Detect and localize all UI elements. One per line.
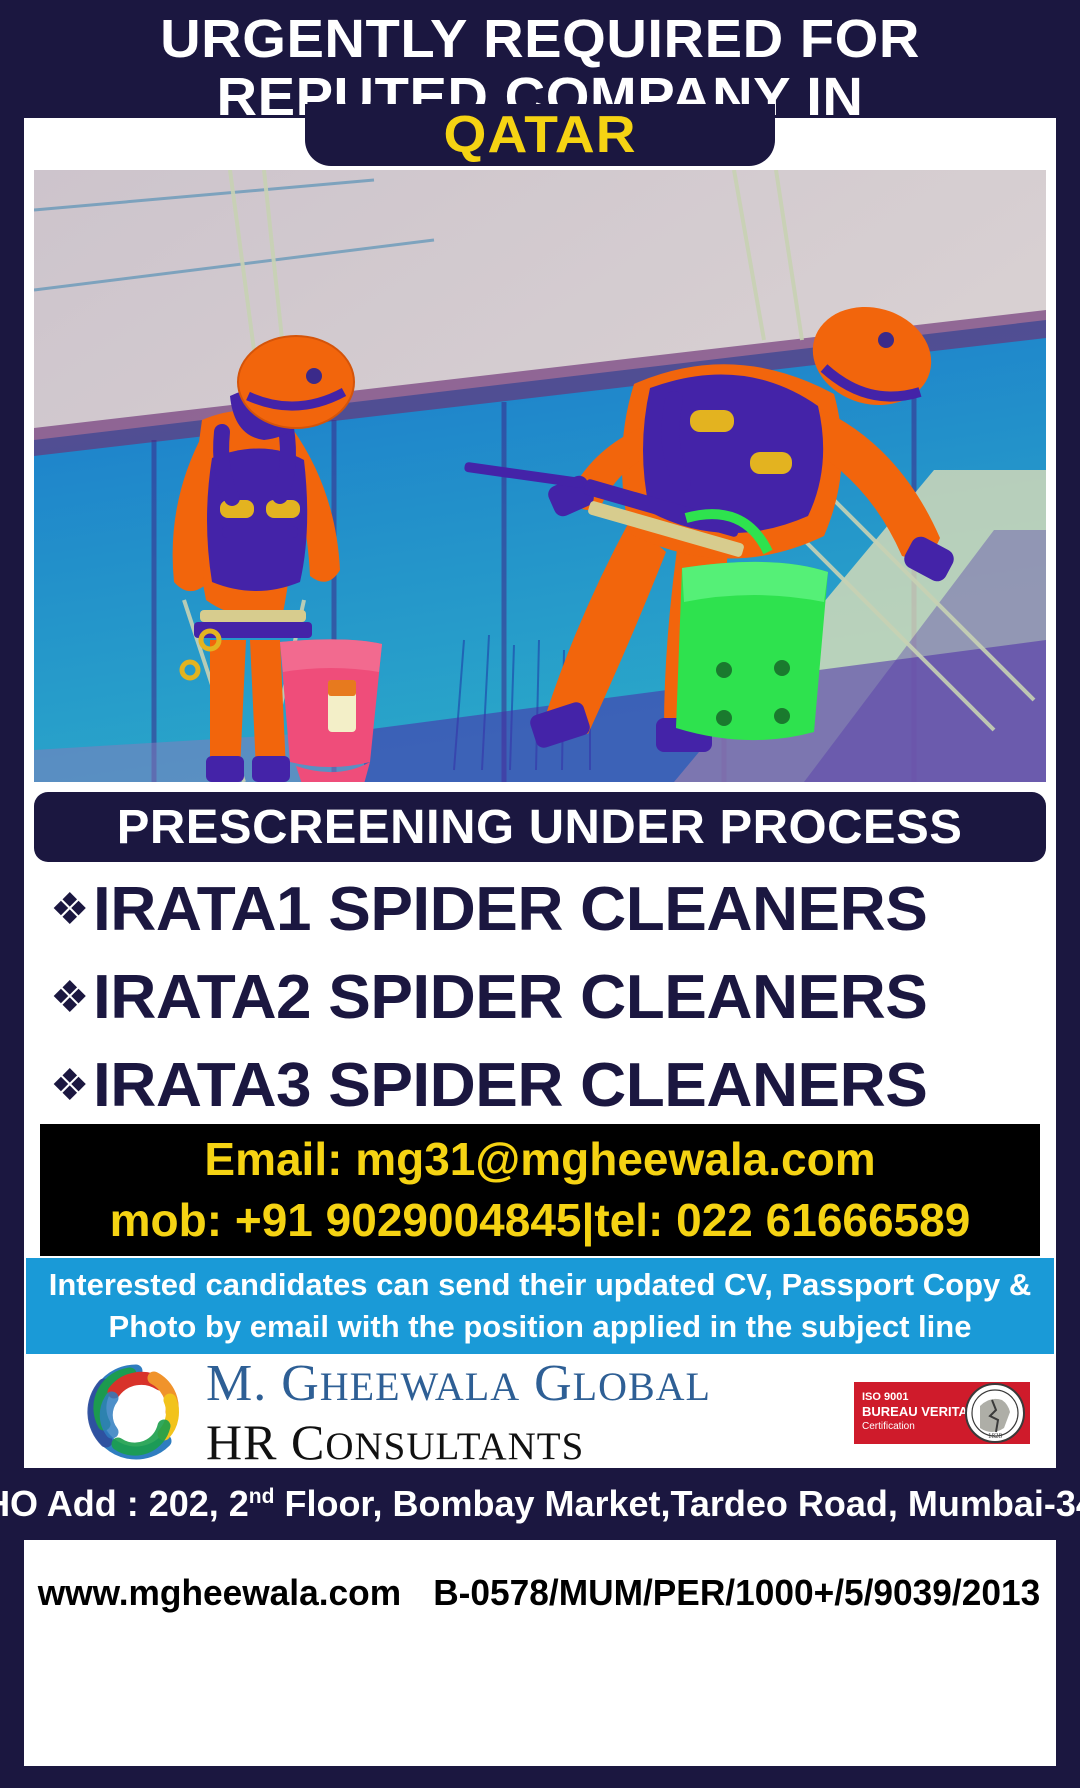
hero-photo [34,170,1046,782]
diamond-bullet-icon: ❖ [50,1064,89,1108]
header-line-1: URGENTLY REQUIRED FOR [0,0,1080,68]
status-bar: PRESCREENING UNDER PROCESS [34,792,1046,862]
iso-standard: ISO 9001 [862,1390,977,1404]
diamond-bullet-icon: ❖ [50,976,89,1020]
status-label: PRESCREENING UNDER PROCESS [117,800,963,855]
country-badge: QATAR [305,104,775,166]
bureau-veritas-seal-icon: 1828 [964,1382,1026,1444]
job-title: IRATA1 SPIDER CLEANERS [93,878,927,942]
company-name-line-2: HR CONSULTANTS [206,1415,711,1474]
company-name-line-1: M. GHEEWALA GLOBAL [206,1356,711,1415]
footer-info: www.mgheewala.com B-0578/MUM/PER/1000+/5… [32,1556,1048,1630]
certification-sub: Certification [862,1420,977,1433]
spider-cleaners-illustration [34,170,1046,782]
office-address: HO Add : 202, 2nd Floor, Bombay Market,T… [0,1468,1080,1540]
diamond-bullet-icon: ❖ [50,888,89,932]
certification-body: BUREAU VERITAS [862,1404,977,1420]
certification-badge: ISO 9001 BUREAU VERITAS Certification 18… [854,1382,1030,1444]
address-text: HO Add : 202, 2nd Floor, Bombay Market,T… [0,1483,1080,1525]
contact-block: Email: mg31@mgheewala.com mob: +91 90290… [40,1124,1040,1256]
job-advertisement-poster: URGENTLY REQUIRED FOR REPUTED COMPANY IN… [0,0,1080,1788]
list-item: ❖ IRATA3 SPIDER CLEANERS [34,1042,1046,1130]
email-address[interactable]: Email: mg31@mgheewala.com [40,1128,1040,1190]
gheewala-ring-logo [84,1360,188,1464]
company-branding: M. GHEEWALA GLOBAL HR CONSULTANTS ISO 90… [26,1354,1054,1468]
license-number: B-0578/MUM/PER/1000+/5/9039/2013 [433,1572,1040,1614]
svg-text:1828: 1828 [988,1432,1003,1440]
instructions-line-1: Interested candidates can send their upd… [26,1264,1054,1306]
list-item: ❖ IRATA1 SPIDER CLEANERS [34,866,1046,954]
ring-logo-icon [84,1360,188,1464]
job-list: ❖ IRATA1 SPIDER CLEANERS ❖ IRATA2 SPIDER… [34,866,1046,1130]
phone-numbers[interactable]: mob: +91 9029004845|tel: 022 61666589 [40,1190,1040,1250]
instructions-line-2: Photo by email with the position applied… [26,1306,1054,1348]
certification-text: ISO 9001 BUREAU VERITAS Certification [862,1390,977,1433]
list-item: ❖ IRATA2 SPIDER CLEANERS [34,954,1046,1042]
job-title: IRATA3 SPIDER CLEANERS [93,1054,927,1118]
website-url[interactable]: www.mgheewala.com [38,1572,401,1614]
application-instructions: Interested candidates can send their upd… [26,1258,1054,1354]
country-label: QATAR [443,109,636,161]
job-title: IRATA2 SPIDER CLEANERS [93,966,927,1030]
company-name: M. GHEEWALA GLOBAL HR CONSULTANTS [206,1356,711,1474]
